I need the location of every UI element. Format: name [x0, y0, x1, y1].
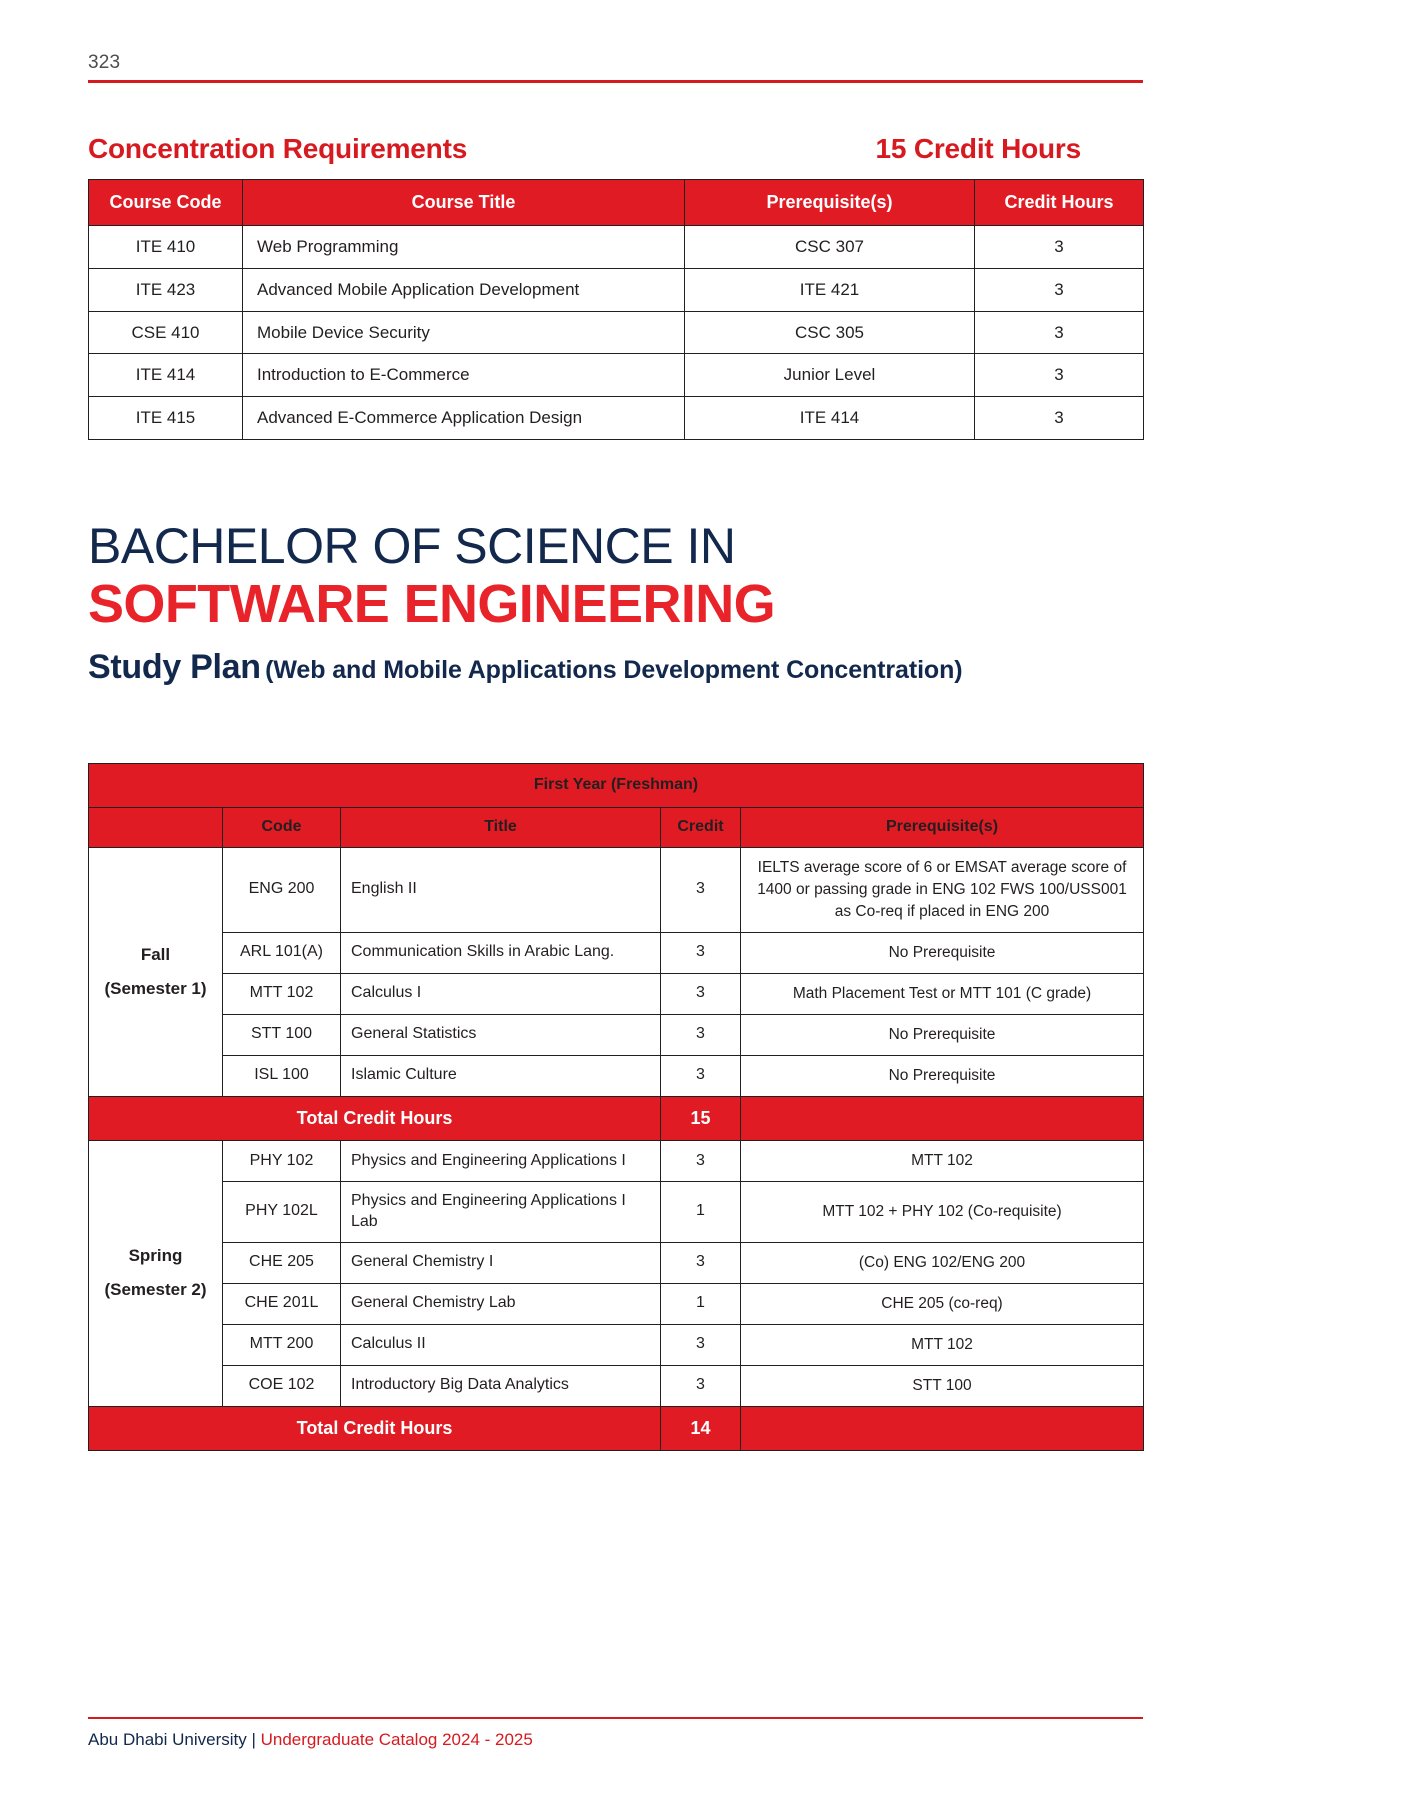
cell-prerequisite: MTT 102 + PHY 102 (Co-requisite) [741, 1181, 1144, 1242]
cell-code: STT 100 [223, 1014, 341, 1055]
cell-credit: 3 [661, 1242, 741, 1283]
cell-credit-hours: 3 [975, 268, 1144, 311]
table-row: CSE 410 Mobile Device Security CSC 305 3 [89, 311, 1144, 354]
cell-course-title: Mobile Device Security [243, 311, 685, 354]
study-plan-section: First Year (Freshman) Code Title Credit … [88, 763, 1143, 1451]
cell-code: CHE 201L [223, 1283, 341, 1324]
total-label: Total Credit Hours [89, 1096, 661, 1140]
page-number: 323 [88, 52, 1143, 80]
cell-title: General Chemistry Lab [341, 1283, 661, 1324]
degree-title-block: BACHELOR OF SCIENCE IN SOFTWARE ENGINEER… [88, 520, 1188, 687]
cell-prerequisite: MTT 102 [741, 1324, 1144, 1365]
cell-course-code: ITE 414 [89, 354, 243, 397]
semester-sublabel: (Semester 2) [90, 1273, 221, 1307]
cell-credit-hours: 3 [975, 354, 1144, 397]
semester-label-spring: Spring (Semester 2) [89, 1140, 223, 1406]
table-row: CHE 201L General Chemistry Lab 1 CHE 205… [89, 1283, 1144, 1324]
column-header-course-code: Course Code [89, 180, 243, 226]
concentration-table: Course Code Course Title Prerequisite(s)… [88, 179, 1144, 440]
header-divider [88, 80, 1143, 83]
footer-catalog: Undergraduate Catalog 2024 - 2025 [261, 1730, 533, 1749]
column-header-credit: Credit [661, 807, 741, 847]
total-credit: 15 [661, 1096, 741, 1140]
year-header-label: First Year (Freshman) [89, 764, 1144, 808]
column-header-credit-hours: Credit Hours [975, 180, 1144, 226]
table-row: PHY 102L Physics and Engineering Applica… [89, 1181, 1144, 1242]
cell-credit: 3 [661, 1140, 741, 1181]
column-header-prerequisites: Prerequisite(s) [741, 807, 1144, 847]
cell-title: Introductory Big Data Analytics [341, 1365, 661, 1406]
study-plan-concentration: (Web and Mobile Applications Development… [265, 656, 962, 684]
cell-credit: 3 [661, 932, 741, 973]
semester-name: Spring [90, 1239, 221, 1273]
column-header-code: Code [223, 807, 341, 847]
cell-prerequisite: No Prerequisite [741, 1055, 1144, 1096]
total-blank [741, 1096, 1144, 1140]
cell-credit: 3 [661, 1365, 741, 1406]
table-row: STT 100 General Statistics 3 No Prerequi… [89, 1014, 1144, 1055]
column-header-row: Code Title Credit Prerequisite(s) [89, 807, 1144, 847]
table-row: COE 102 Introductory Big Data Analytics … [89, 1365, 1144, 1406]
column-header-semester [89, 807, 223, 847]
total-label: Total Credit Hours [89, 1406, 661, 1450]
cell-credit-hours: 3 [975, 311, 1144, 354]
semester-sublabel: (Semester 1) [90, 972, 221, 1006]
cell-credit: 3 [661, 973, 741, 1014]
semester-label-fall: Fall (Semester 1) [89, 847, 223, 1096]
cell-credit: 1 [661, 1283, 741, 1324]
cell-code: COE 102 [223, 1365, 341, 1406]
cell-title: General Chemistry I [341, 1242, 661, 1283]
cell-title: Physics and Engineering Applications I [341, 1140, 661, 1181]
cell-prerequisite: CSC 305 [685, 311, 975, 354]
cell-credit: 3 [661, 847, 741, 932]
cell-prerequisite: ITE 414 [685, 397, 975, 440]
degree-name: SOFTWARE ENGINEERING [88, 575, 1188, 634]
cell-title: General Statistics [341, 1014, 661, 1055]
footer-text: Abu Dhabi University | Undergraduate Cat… [88, 1730, 1143, 1750]
cell-code: PHY 102L [223, 1181, 341, 1242]
cell-course-title: Web Programming [243, 226, 685, 269]
cell-prerequisite: CHE 205 (co-req) [741, 1283, 1144, 1324]
cell-credit: 3 [661, 1014, 741, 1055]
column-header-title: Title [341, 807, 661, 847]
cell-course-title: Advanced E-Commerce Application Design [243, 397, 685, 440]
table-row: ITE 423 Advanced Mobile Application Deve… [89, 268, 1144, 311]
table-row: Fall (Semester 1) ENG 200 English II 3 I… [89, 847, 1144, 932]
table-row: ITE 410 Web Programming CSC 307 3 [89, 226, 1144, 269]
cell-prerequisite: STT 100 [741, 1365, 1144, 1406]
study-plan-heading: Study Plan (Web and Mobile Applications … [88, 648, 1188, 687]
cell-prerequisite: Math Placement Test or MTT 101 (C grade) [741, 973, 1144, 1014]
cell-course-title: Advanced Mobile Application Development [243, 268, 685, 311]
cell-course-code: CSE 410 [89, 311, 243, 354]
cell-title: Physics and Engineering Applications I L… [341, 1181, 661, 1242]
cell-course-code: ITE 410 [89, 226, 243, 269]
total-row-fall: Total Credit Hours 15 [89, 1096, 1144, 1140]
semester-name: Fall [90, 938, 221, 972]
cell-title: Calculus II [341, 1324, 661, 1365]
total-blank [741, 1406, 1144, 1450]
column-header-course-title: Course Title [243, 180, 685, 226]
page-header: 323 [88, 52, 1143, 83]
concentration-requirements-section: Concentration Requirements 15 Credit Hou… [88, 133, 1143, 440]
cell-code: ENG 200 [223, 847, 341, 932]
cell-credit: 1 [661, 1181, 741, 1242]
table-row: Spring (Semester 2) PHY 102 Physics and … [89, 1140, 1144, 1181]
section-credit-hours: 15 Credit Hours [876, 133, 1144, 165]
cell-prerequisite: MTT 102 [741, 1140, 1144, 1181]
cell-credit-hours: 3 [975, 397, 1144, 440]
table-row: ARL 101(A) Communication Skills in Arabi… [89, 932, 1144, 973]
table-row: CHE 205 General Chemistry I 3 (Co) ENG 1… [89, 1242, 1144, 1283]
table-row: MTT 102 Calculus I 3 Math Placement Test… [89, 973, 1144, 1014]
cell-course-code: ITE 423 [89, 268, 243, 311]
footer-separator: | [247, 1730, 261, 1749]
cell-prerequisite: ITE 421 [685, 268, 975, 311]
cell-code: MTT 200 [223, 1324, 341, 1365]
year-header-row: First Year (Freshman) [89, 764, 1144, 808]
cell-code: CHE 205 [223, 1242, 341, 1283]
table-header-row: Course Code Course Title Prerequisite(s)… [89, 180, 1144, 226]
cell-course-code: ITE 415 [89, 397, 243, 440]
cell-credit: 3 [661, 1055, 741, 1096]
cell-code: MTT 102 [223, 973, 341, 1014]
concentration-heading-row: Concentration Requirements 15 Credit Hou… [88, 133, 1143, 165]
cell-credit: 3 [661, 1324, 741, 1365]
cell-prerequisite: No Prerequisite [741, 932, 1144, 973]
cell-prerequisite: IELTS average score of 6 or EMSAT averag… [741, 847, 1144, 932]
table-row: ITE 415 Advanced E-Commerce Application … [89, 397, 1144, 440]
cell-title: English II [341, 847, 661, 932]
study-plan-label: Study Plan [88, 648, 261, 686]
total-row-spring: Total Credit Hours 14 [89, 1406, 1144, 1450]
page-footer: Abu Dhabi University | Undergraduate Cat… [88, 1717, 1143, 1750]
cell-prerequisite: No Prerequisite [741, 1014, 1144, 1055]
cell-code: ARL 101(A) [223, 932, 341, 973]
table-row: ITE 414 Introduction to E-Commerce Junio… [89, 354, 1144, 397]
cell-title: Islamic Culture [341, 1055, 661, 1096]
cell-code: ISL 100 [223, 1055, 341, 1096]
footer-university: Abu Dhabi University [88, 1730, 247, 1749]
cell-title: Communication Skills in Arabic Lang. [341, 932, 661, 973]
footer-divider [88, 1717, 1143, 1719]
cell-course-title: Introduction to E-Commerce [243, 354, 685, 397]
section-title: Concentration Requirements [88, 133, 467, 165]
total-credit: 14 [661, 1406, 741, 1450]
cell-prerequisite: (Co) ENG 102/ENG 200 [741, 1242, 1144, 1283]
table-row: MTT 200 Calculus II 3 MTT 102 [89, 1324, 1144, 1365]
cell-prerequisite: CSC 307 [685, 226, 975, 269]
study-plan-table: First Year (Freshman) Code Title Credit … [88, 763, 1144, 1451]
degree-prefix: BACHELOR OF SCIENCE IN [88, 520, 1188, 573]
cell-prerequisite: Junior Level [685, 354, 975, 397]
cell-credit-hours: 3 [975, 226, 1144, 269]
cell-title: Calculus I [341, 973, 661, 1014]
table-row: ISL 100 Islamic Culture 3 No Prerequisit… [89, 1055, 1144, 1096]
cell-code: PHY 102 [223, 1140, 341, 1181]
catalog-page: 323 Concentration Requirements 15 Credit… [0, 0, 1418, 1812]
column-header-prerequisites: Prerequisite(s) [685, 180, 975, 226]
